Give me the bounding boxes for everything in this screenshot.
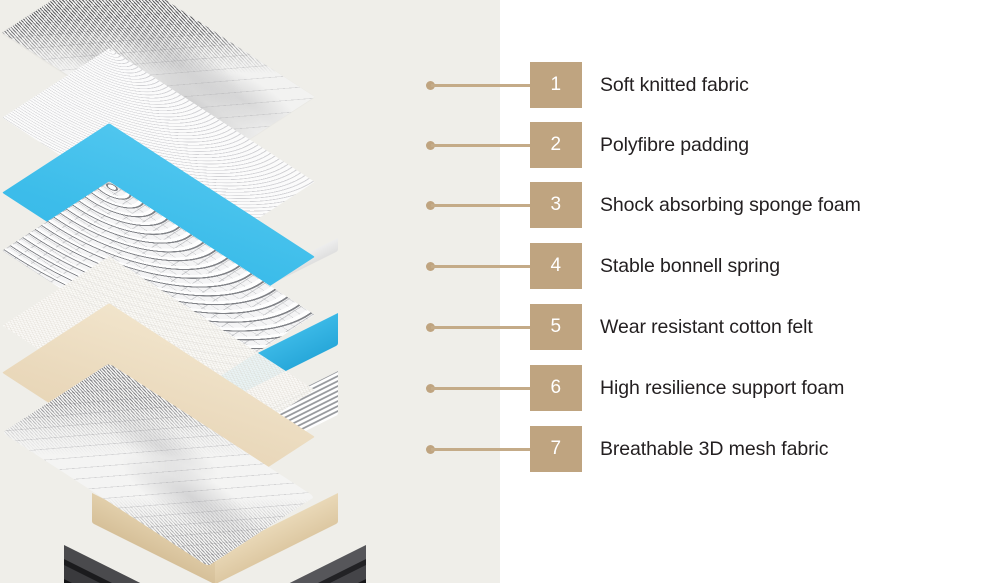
legend-list: 1 Soft knitted fabric 2 Polyfibre paddin… (0, 0, 1000, 583)
legend-row-2[interactable]: 2 Polyfibre padding (0, 122, 1000, 168)
legend-number-6: 6 (530, 365, 582, 411)
leader-line-2 (431, 144, 532, 147)
diagram-stage: 1 Soft knitted fabric 2 Polyfibre paddin… (0, 0, 1000, 583)
legend-label-5: Wear resistant cotton felt (600, 304, 813, 350)
legend-row-7[interactable]: 7 Breathable 3D mesh fabric (0, 426, 1000, 472)
leader-line-6 (431, 387, 532, 390)
legend-row-1[interactable]: 1 Soft knitted fabric (0, 62, 1000, 108)
leader-line-3 (431, 204, 532, 207)
legend-label-4: Stable bonnell spring (600, 243, 780, 289)
legend-number-7: 7 (530, 426, 582, 472)
legend-number-3: 3 (530, 182, 582, 228)
legend-label-1: Soft knitted fabric (600, 62, 749, 108)
legend-row-5[interactable]: 5 Wear resistant cotton felt (0, 304, 1000, 350)
leader-line-7 (431, 448, 532, 451)
leader-line-1 (431, 84, 532, 87)
legend-number-4: 4 (530, 243, 582, 289)
legend-row-4[interactable]: 4 Stable bonnell spring (0, 243, 1000, 289)
legend-row-6[interactable]: 6 High resilience support foam (0, 365, 1000, 411)
legend-number-2: 2 (530, 122, 582, 168)
legend-number-5: 5 (530, 304, 582, 350)
leader-line-4 (431, 265, 532, 268)
legend-label-7: Breathable 3D mesh fabric (600, 426, 828, 472)
legend-number-1: 1 (530, 62, 582, 108)
legend-label-6: High resilience support foam (600, 365, 844, 411)
legend-row-3[interactable]: 3 Shock absorbing sponge foam (0, 182, 1000, 228)
leader-line-5 (431, 326, 532, 329)
legend-label-3: Shock absorbing sponge foam (600, 182, 861, 228)
legend-label-2: Polyfibre padding (600, 122, 749, 168)
